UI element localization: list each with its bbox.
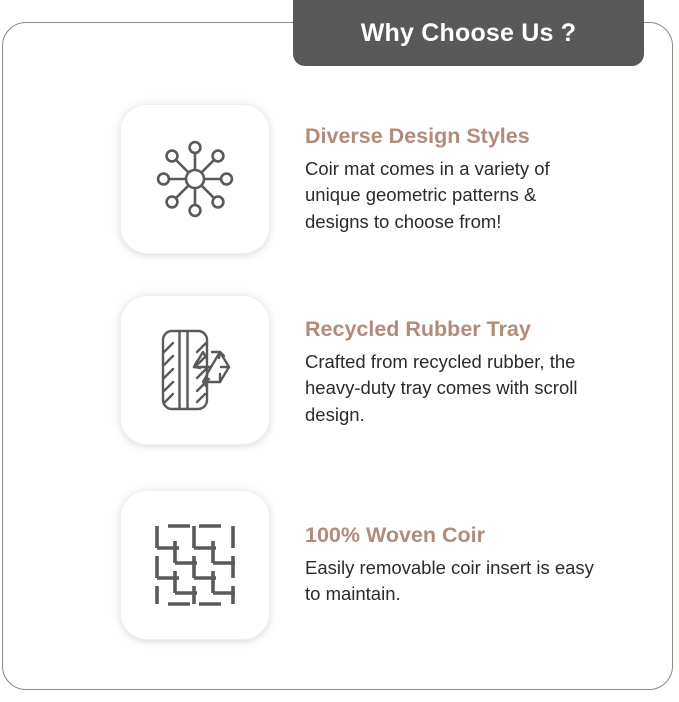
feature-description: Easily removable coir insert is easy to … <box>305 555 605 609</box>
recycled-tire-icon <box>147 322 243 418</box>
icon-tile-woven-coir <box>121 491 269 639</box>
feature-description: Coir mat comes in a variety of unique ge… <box>305 156 605 236</box>
feature-title: 100% Woven Coir <box>305 524 605 548</box>
icon-tile-recycled-rubber-tray <box>121 296 269 444</box>
feature-text-block: Diverse Design Styles Coir mat comes in … <box>305 105 605 236</box>
network-hub-icon <box>147 131 243 227</box>
feature-title: Recycled Rubber Tray <box>305 318 605 342</box>
header-banner: Why Choose Us ? <box>293 0 644 66</box>
feature-text-block: Recycled Rubber Tray Crafted from recycl… <box>305 296 605 429</box>
page-title: Why Choose Us ? <box>361 21 577 46</box>
feature-item-woven-coir: 100% Woven Coir Easily removable coir in… <box>0 491 679 639</box>
feature-title: Diverse Design Styles <box>305 125 605 149</box>
icon-tile-diverse-design-styles <box>121 105 269 253</box>
feature-list: Diverse Design Styles Coir mat comes in … <box>0 0 679 702</box>
feature-text-block: 100% Woven Coir Easily removable coir in… <box>305 491 605 608</box>
feature-item-recycled-rubber-tray: Recycled Rubber Tray Crafted from recycl… <box>0 296 679 444</box>
feature-item-diverse-design-styles: Diverse Design Styles Coir mat comes in … <box>0 105 679 253</box>
feature-description: Crafted from recycled rubber, the heavy-… <box>305 349 605 429</box>
woven-weave-icon <box>149 519 241 611</box>
